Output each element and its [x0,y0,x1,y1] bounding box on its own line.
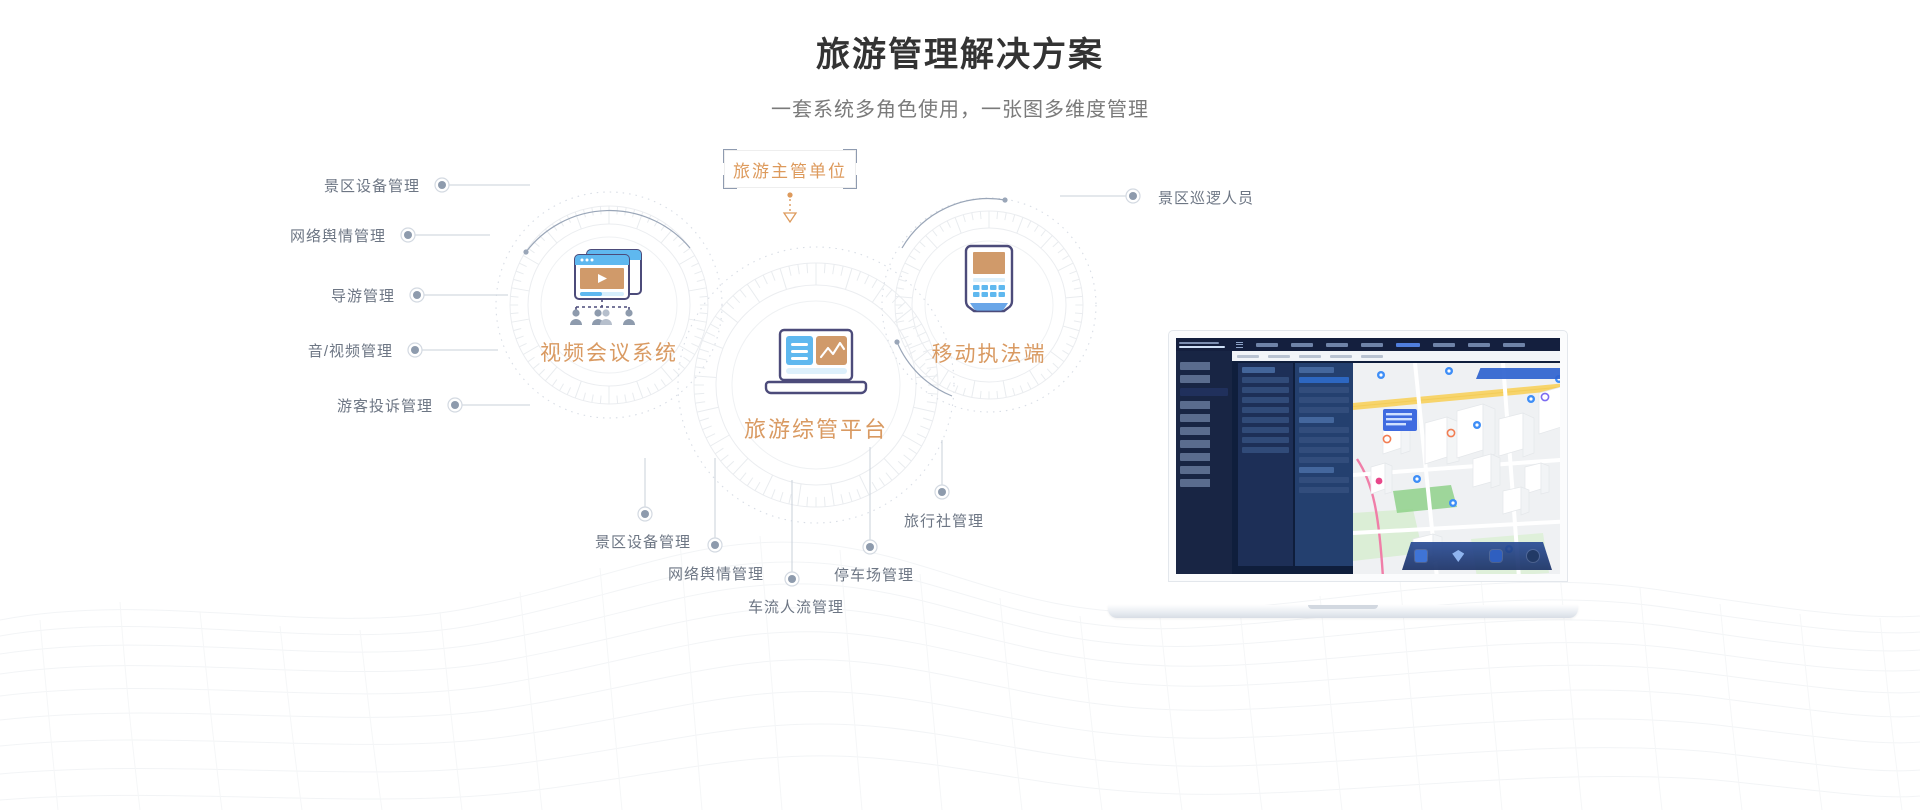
sidebar-item-active[interactable] [1180,388,1228,396]
dock-icon-command-center[interactable] [1415,550,1427,562]
layer-item[interactable] [1299,427,1349,433]
bottom-label-3[interactable]: 停车场管理 [834,564,914,585]
page-subtitle: 一套系统多角色使用，一张图多维度管理 [0,93,1920,122]
sidebar-item[interactable] [1180,375,1228,383]
map-bottom-dock [1402,542,1552,570]
nav-item[interactable] [1291,343,1313,347]
sidebar-item[interactable] [1180,453,1228,461]
nav-item[interactable] [1256,343,1278,347]
bottom-connector-lines [600,400,1000,590]
tree-node[interactable] [1242,417,1289,423]
right-label-0[interactable]: 景区巡逻人员 [1158,187,1254,208]
left-label-2[interactable]: 导游管理 [215,285,395,306]
laptop-dashboard-preview[interactable] [1108,330,1578,630]
laptop-screen [1176,338,1560,574]
tree-node[interactable] [1242,427,1289,433]
tree-node[interactable] [1242,377,1289,383]
bottom-label-0[interactable]: 景区设备管理 [595,531,691,552]
sidebar-item[interactable] [1180,362,1228,370]
layer-item[interactable] [1299,447,1349,453]
page-title: 旅游管理解决方案 [0,34,1920,77]
layer-item[interactable] [1299,407,1349,413]
tree-node[interactable] [1242,397,1289,403]
nav-item[interactable] [1503,343,1525,347]
dock-icon-security[interactable] [1490,550,1502,562]
tab-chip[interactable] [1330,355,1352,358]
layer-group-title [1299,367,1334,373]
sidebar-item[interactable] [1180,479,1228,487]
layer-item[interactable] [1299,397,1349,403]
corner-bracket-top-left [723,149,737,163]
screen-top-nav [1176,338,1560,351]
tree-node[interactable] [1242,447,1289,453]
node-ring-mobile-enforcement[interactable]: 移动执法端 [880,196,1098,414]
screen-layer-panel [1295,363,1353,566]
tree-node[interactable] [1242,387,1289,393]
layer-group-title [1299,467,1334,473]
mobile-terminal-icon [957,242,1021,328]
laptop-dashboard-icon [763,326,869,400]
layer-group-title [1299,417,1334,423]
map-toolbar-banner[interactable] [1476,368,1560,379]
nav-item[interactable] [1361,343,1383,347]
node-label-mobile-enforcement: 移动执法端 [932,338,1047,368]
layer-item-active[interactable] [1299,377,1349,383]
page-header: 旅游管理解决方案 一套系统多角色使用，一张图多维度管理 [0,34,1920,122]
authority-box[interactable]: 旅游主管单位 [724,150,856,188]
tab-chip[interactable] [1268,355,1290,358]
nav-item[interactable] [1326,343,1348,347]
tab-chip[interactable] [1299,355,1321,358]
dock-icon-monitoring[interactable] [1527,550,1539,562]
authority-arrow-icon [777,192,803,226]
laptop-lid [1168,330,1568,582]
screen-sidebar [1176,351,1232,574]
layer-item[interactable] [1299,437,1349,443]
corner-bracket-top-right [843,149,857,163]
nav-item[interactable] [1433,343,1455,347]
dock-icon-event-handling[interactable] [1452,550,1464,562]
screen-tree-panel [1238,363,1293,566]
corner-bracket-bottom-left [723,175,737,189]
sidebar-item[interactable] [1180,401,1228,409]
left-label-3[interactable]: 音/视频管理 [213,340,393,361]
layer-item[interactable] [1299,387,1349,393]
corner-bracket-bottom-right [843,175,857,189]
authority-box-frame: 旅游主管单位 [724,150,856,188]
infographic-stage: 旅游管理解决方案 一套系统多角色使用，一张图多维度管理 旅游主管单位 [0,0,1920,810]
sidebar-item[interactable] [1180,440,1228,448]
left-label-4[interactable]: 游客投诉管理 [253,395,433,416]
bottom-label-2[interactable]: 车流人流管理 [748,596,844,617]
screen-logo [1176,338,1232,351]
layer-item[interactable] [1299,477,1349,483]
screen-nav-items [1256,343,1525,347]
laptop-base [1108,605,1578,618]
bottom-label-4[interactable]: 旅行社管理 [904,510,984,531]
sidebar-item[interactable] [1180,466,1228,474]
tree-panel-title [1242,367,1275,373]
screen-tab-bar [1232,351,1560,361]
nav-item[interactable] [1468,343,1490,347]
sidebar-item[interactable] [1180,427,1228,435]
layer-item[interactable] [1299,487,1349,493]
tree-node[interactable] [1242,437,1289,443]
left-label-1[interactable]: 网络舆情管理 [206,225,386,246]
bottom-label-1[interactable]: 网络舆情管理 [668,563,764,584]
left-label-0[interactable]: 景区设备管理 [240,175,420,196]
tab-chip[interactable] [1237,355,1259,358]
menu-icon[interactable] [1236,342,1246,348]
layer-item[interactable] [1299,457,1349,463]
nav-item-active[interactable] [1396,343,1420,347]
tab-chip[interactable] [1361,355,1383,358]
authority-label: 旅游主管单位 [733,157,847,182]
sidebar-item[interactable] [1180,414,1228,422]
tree-node[interactable] [1242,407,1289,413]
